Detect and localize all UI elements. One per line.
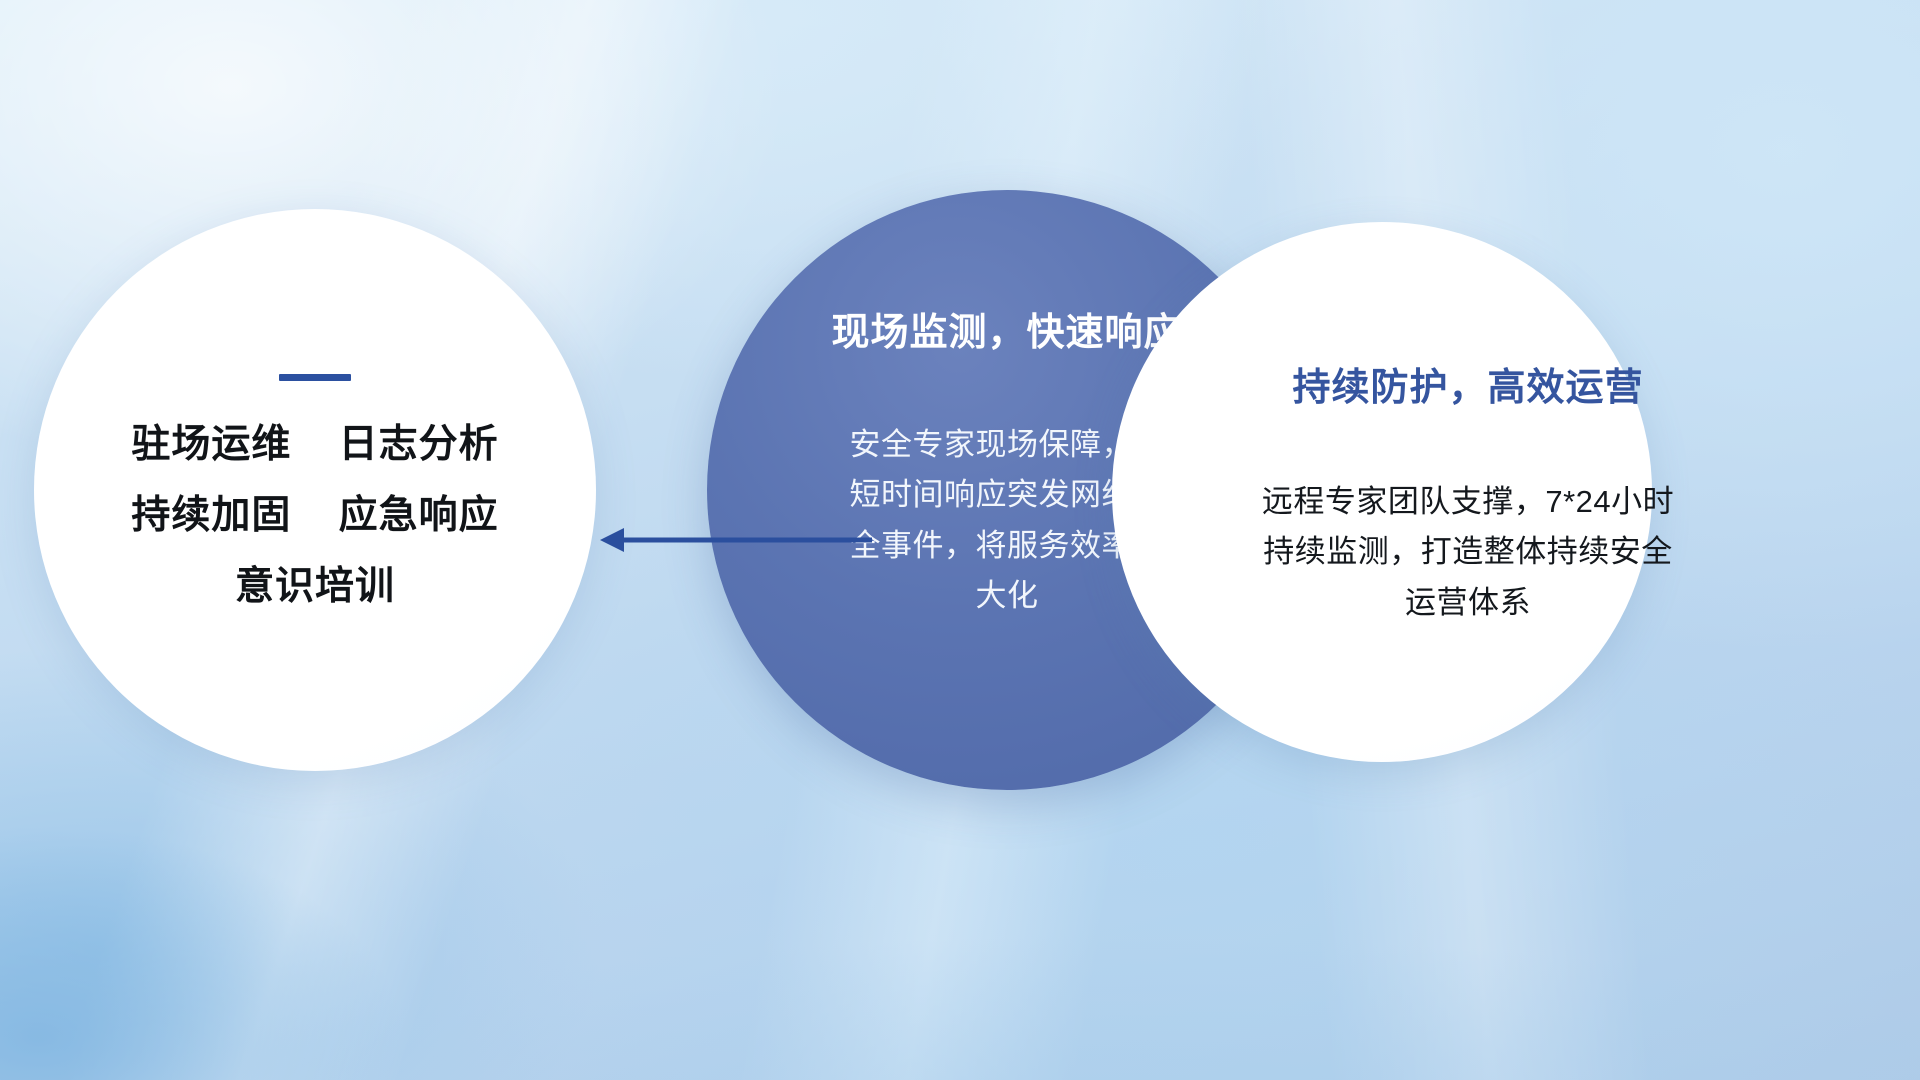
divider-dash: [279, 374, 351, 381]
onsite-monitoring-title: 现场监测，快速响应: [831, 301, 1182, 356]
continuous-protection-title: 持续防护，高效运营: [1258, 356, 1678, 411]
capability-line-1: 驻场运维 日志分析: [131, 425, 498, 464]
continuous-protection-content: 持续防护，高效运营 远程专家团队支撑，7*24小时持续监测，打造整体持续安全运营…: [1258, 356, 1678, 628]
continuous-protection-body: 远程专家团队支撑，7*24小时持续监测，打造整体持续安全运营体系: [1258, 477, 1678, 628]
capability-line-3: 意识培训: [235, 567, 395, 606]
continuous-protection-circle: 持续防护，高效运营 远程专家团队支撑，7*24小时持续监测，打造整体持续安全运营…: [1112, 222, 1652, 762]
capabilities-circle: 驻场运维 日志分析 持续加固 应急响应 意识培训: [34, 209, 596, 771]
flow-arrow-icon: [596, 514, 876, 566]
slide-canvas: 驻场运维 日志分析 持续加固 应急响应 意识培训 现场监测，快速响应 安全专家现…: [0, 0, 1920, 1080]
capability-line-2: 持续加固 应急响应: [131, 496, 498, 535]
